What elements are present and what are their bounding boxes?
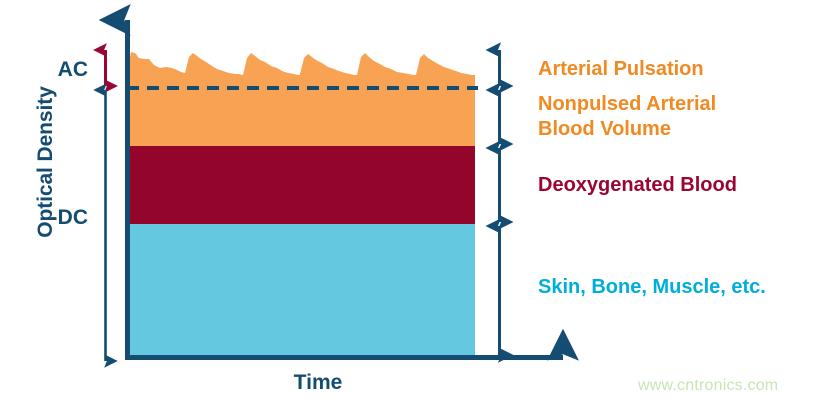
figure-canvas: Optical Density AC DC Time Arterial Puls… <box>0 0 825 404</box>
legend-item-nonpulsed-arterial-blood-volume: Nonpulsed Arterial Blood Volume <box>538 92 716 142</box>
band-skin-bone-muscle <box>127 224 475 357</box>
ac-marker-label: AC <box>18 58 88 82</box>
x-axis-title: Time <box>258 371 378 395</box>
dc-marker-label: DC <box>18 206 88 230</box>
stacked-bands <box>127 52 475 357</box>
band-arterial-pulsation-waveform <box>127 52 475 88</box>
band-nonpulsed-arterial <box>127 88 475 146</box>
legend-item-deoxygenated-blood: Deoxygenated Blood <box>538 173 737 198</box>
legend-item-arterial-pulsation: Arterial Pulsation <box>538 57 704 82</box>
legend-item-skin-bone-muscle: Skin, Bone, Muscle, etc. <box>538 275 766 300</box>
band-deoxygenated-blood <box>127 146 475 224</box>
watermark: www.cntronics.com <box>638 377 778 395</box>
